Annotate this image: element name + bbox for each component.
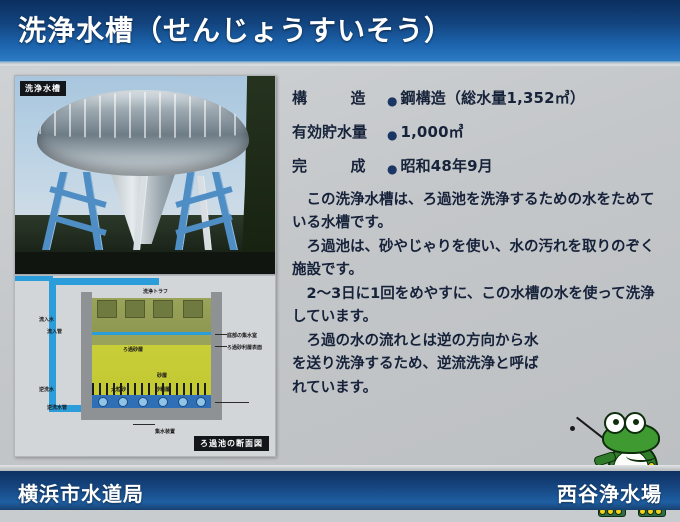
- underdrain-port: [196, 397, 206, 407]
- diagram-label-inflow-water: 流入水: [39, 316, 54, 323]
- pipe-inflow: [15, 276, 53, 281]
- photo-caption: 洗浄水槽: [20, 81, 66, 96]
- basin-wall-left: [81, 292, 92, 420]
- diagram-label-backwash-water: 逆洗水: [39, 386, 54, 393]
- basin-wall-bottom: [81, 408, 222, 420]
- diagram-label-trough: 洗浄トラフ: [143, 288, 168, 295]
- frog-eye: [604, 412, 626, 434]
- spec-list: 構 造 ● 鋼構造（総水量1,352㎥） 有効貯水量 ● 1,000㎥ 完 成 …: [292, 87, 664, 189]
- spec-label: 有効貯水量: [292, 121, 384, 142]
- diagram-label-right-upper: 底部の集水室: [227, 332, 257, 339]
- underdrain-port: [178, 397, 188, 407]
- diagram-label-filter-layer: ろ過砂層: [123, 346, 143, 353]
- footer-organization: 横浜市水道局: [18, 478, 144, 507]
- paragraph: ろ過の水の流れとは逆の方向から水を送り洗浄するため、逆流洗浄と呼ばれています。: [292, 330, 550, 400]
- bullet-icon: ●: [387, 162, 397, 176]
- wash-trough: [183, 300, 203, 318]
- underdrain-port: [138, 397, 148, 407]
- paragraph: 2〜3日に1回をめやすに、この水槽の水を使って洗浄しています。: [292, 283, 660, 330]
- description-text: この洗浄水槽は、ろ過池を洗浄するための水をためている水槽です。 ろ過池は、砂やじ…: [292, 189, 660, 400]
- wash-trough: [153, 300, 173, 318]
- underdrain-port: [118, 397, 128, 407]
- diagram-label-gravel-right: 砂利層: [155, 386, 170, 393]
- main-content: 洗浄水槽: [0, 67, 680, 465]
- spec-row: 完 成 ● 昭和48年9月: [292, 155, 664, 176]
- bullet-icon: ●: [387, 128, 397, 142]
- tank-photo: 洗浄水槽: [14, 75, 276, 275]
- diagram-leader-line: [215, 346, 227, 347]
- spec-row: 構 造 ● 鋼構造（総水量1,352㎥）: [292, 87, 664, 108]
- underdrain-layer: [92, 395, 211, 408]
- information-board: 洗浄水槽（せんじょうすいそう） 洗浄水槽: [0, 0, 680, 510]
- frog-pupil: [633, 419, 639, 425]
- diagram-leader-line: [215, 334, 227, 335]
- basin-wall-right: [211, 292, 222, 420]
- diagram-caption: ろ過池の断面図: [194, 436, 269, 451]
- diagram-label-gravel-left: 大粒砂: [111, 386, 126, 393]
- photo-ground: [15, 252, 275, 274]
- spec-label: 構 造: [292, 87, 384, 108]
- bullet-icon: ●: [387, 94, 397, 108]
- wash-trough: [125, 300, 145, 318]
- underdrain-port: [158, 397, 168, 407]
- footer-bar: 横浜市水道局 西谷浄水場: [0, 471, 680, 510]
- diagram-leader-line: [133, 424, 155, 425]
- spec-row: 有効貯水量 ● 1,000㎥: [292, 121, 664, 142]
- paragraph: この洗浄水槽は、ろ過池を洗浄するための水をためている水槽です。: [292, 189, 660, 236]
- underdrain-port: [98, 397, 108, 407]
- frog-pupil: [613, 419, 619, 425]
- pointer-tip-icon: [570, 426, 575, 431]
- sand-top-layer: [92, 335, 211, 345]
- spec-label: 完 成: [292, 155, 384, 176]
- page-title: 洗浄水槽（せんじょうすいそう）: [18, 9, 453, 49]
- frog-eye: [624, 412, 646, 434]
- diagram-label-right-lower: ろ過砂利層表面: [227, 344, 262, 351]
- diagram-leader-line: [215, 402, 249, 403]
- diagram-label-drain-pipe: 集水装置: [155, 428, 175, 435]
- pipe-top: [49, 278, 159, 285]
- spec-value: 1,000㎥: [400, 121, 463, 142]
- filter-basin-diagram: 洗浄トラフ 流入水 流入管 逆洗水 逆洗水管 底部の集水室 ろ過砂利層表面 ろ過…: [14, 275, 276, 457]
- wash-trough: [97, 300, 117, 318]
- header-bar: 洗浄水槽（せんじょうすいそう）: [0, 0, 680, 62]
- paragraph: ろ過池は、砂やじゃりを使い、水の汚れを取りのぞく施設です。: [292, 236, 660, 283]
- diagram-label-sand: 砂層: [157, 372, 167, 379]
- spec-value: 鋼構造（総水量1,352㎥）: [400, 87, 585, 108]
- gravel-layer: [92, 383, 211, 395]
- footer-facility: 西谷浄水場: [557, 478, 662, 507]
- diagram-label-backwash-pipe: 逆洗水管: [47, 404, 67, 411]
- frog-mouth: [626, 450, 656, 462]
- spec-value: 昭和48年9月: [400, 155, 492, 176]
- diagram-label-inflow-pipe: 流入管: [47, 328, 62, 335]
